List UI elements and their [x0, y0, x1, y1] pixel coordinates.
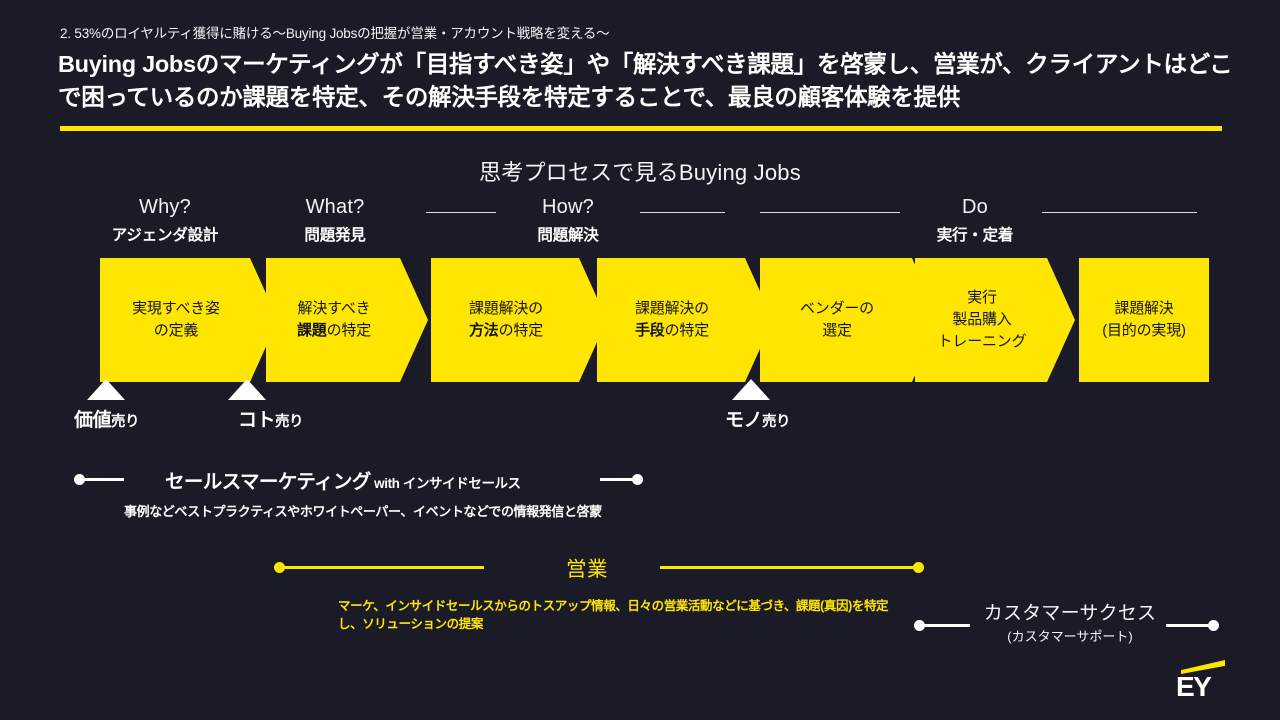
marker-label-3-emphasis: モノ	[725, 410, 762, 431]
marker-label-value-selling: 価値売り	[74, 405, 139, 432]
lane-title-customer-success-main: カスタマーサクセス	[980, 598, 1160, 625]
process-step-3-line1: 課題解決の	[469, 300, 543, 317]
phase-divider-1	[426, 212, 496, 213]
phase-question-why: Why?	[95, 197, 235, 218]
lane-title-sales-marketing-main: セールスマーケティング	[165, 471, 371, 493]
process-chevron-row: 実現すべき姿 の定義 解決すべき 課題の特定 課題解決の 方法の特定 課題解決の…	[0, 258, 1280, 382]
marker-label-mono-selling: モノ売り	[725, 405, 790, 432]
lane-endpoint-dot-icon-marketing-right	[632, 474, 643, 485]
process-step-2-emphasis: 課題	[297, 322, 327, 339]
marker-label-1-emphasis: 価値	[74, 410, 111, 431]
lane-title-sales-marketing: セールスマーケティング with インサイドセールス	[165, 465, 521, 494]
triangle-marker-icon-3	[732, 379, 770, 400]
lane-line-sales-left	[282, 566, 484, 569]
marker-label-3-suffix: 売り	[762, 414, 790, 430]
process-step-1-line1: 実現すべき姿	[132, 300, 220, 317]
lane-line-marketing-left	[82, 478, 124, 481]
process-step-2-line1: 解決すべき	[298, 300, 371, 317]
lane-title-customer-success: カスタマーサクセス (カスタマーサポート)	[980, 598, 1160, 645]
process-step-7-text: 課題解決 (目的の実現)	[1094, 298, 1194, 342]
phase-question-do: Do	[905, 197, 1045, 218]
lane-line-cs-right	[1166, 624, 1214, 627]
lane-title-customer-success-sub: (カスタマーサポート)	[980, 626, 1160, 645]
ey-wordmark: EY	[1176, 673, 1210, 701]
phase-subtitle-how: 問題解決	[498, 223, 638, 245]
lane-description-sales: マーケ、インサイドセールスからのトスアップ情報、日々の営業活動などに基づき、課題…	[338, 597, 898, 633]
phase-subtitle-why: アジェンダ設計	[95, 223, 235, 245]
lane-description-sales-marketing: 事例などベストプラクティスやホワイトペーパー、イベントなどでの情報発信と啓蒙	[124, 503, 644, 521]
lane-title-sales: 営業	[566, 552, 608, 582]
lane-line-sales-right	[660, 566, 918, 569]
ey-logo: EY	[1176, 660, 1248, 706]
lane-line-cs-left	[922, 624, 970, 627]
process-step-2[interactable]: 解決すべき 課題の特定	[266, 258, 428, 382]
diagram-title: 思考プロセスで見るBuying Jobs	[0, 155, 1280, 187]
process-step-7-line1: 課題解決	[1114, 300, 1173, 317]
headline-underline-rule	[60, 126, 1222, 131]
phase-subtitle-what: 問題発見	[265, 223, 405, 245]
process-step-4[interactable]: 課題解決の 手段の特定	[597, 258, 773, 382]
marker-label-2-emphasis: コト	[238, 410, 275, 431]
phase-header-do: Do 実行・定着	[905, 197, 1045, 245]
lane-endpoint-dot-icon-sales-right	[913, 562, 924, 573]
process-step-3-line2-tail: の特定	[499, 322, 543, 339]
marker-label-1-suffix: 売り	[111, 414, 139, 430]
process-step-4-text: 課題解決の 手段の特定	[631, 298, 739, 342]
phase-header-what: What? 問題発見	[265, 197, 405, 245]
process-step-1[interactable]: 実現すべき姿 の定義	[100, 258, 278, 382]
phase-divider-4	[1042, 212, 1197, 213]
page-title: Buying Jobsのマーケティングが「目指すべき姿」や「解決すべき課題」を啓…	[58, 48, 1238, 115]
process-step-7[interactable]: 課題解決 (目的の実現)	[1079, 258, 1209, 382]
process-step-4-line1: 課題解決の	[635, 300, 709, 317]
phase-header-why: Why? アジェンダ設計	[95, 197, 235, 245]
process-step-2-text: 解決すべき 課題の特定	[293, 298, 401, 342]
process-step-6-line2: 製品購入	[952, 311, 1011, 328]
process-step-3-text: 課題解決の 方法の特定	[465, 298, 573, 342]
marker-label-2-suffix: 売り	[275, 414, 303, 430]
process-step-5[interactable]: ベンダーの 選定	[760, 258, 940, 382]
triangle-marker-icon-1	[87, 379, 125, 400]
process-step-1-text: 実現すべき姿 の定義	[128, 298, 250, 342]
process-step-4-emphasis: 手段	[635, 322, 665, 339]
process-step-3[interactable]: 課題解決の 方法の特定	[431, 258, 607, 382]
phase-divider-2	[640, 212, 725, 213]
process-step-7-line2: (目的の実現)	[1102, 322, 1186, 339]
process-step-6-line3: トレーニング	[938, 333, 1027, 350]
marker-label-koto-selling: コト売り	[238, 405, 303, 432]
triangle-marker-icon-2	[228, 379, 266, 400]
slide-canvas: 2. 53%のロイヤルティ獲得に賭ける〜Buying Jobsの把握が営業・アカ…	[0, 0, 1280, 720]
process-step-5-line2: 選定	[822, 322, 852, 339]
process-step-4-line2-tail: の特定	[665, 322, 709, 339]
phase-header-how: How? 問題解決	[498, 197, 638, 245]
slide-eyebrow: 2. 53%のロイヤルティ獲得に賭ける〜Buying Jobsの把握が営業・アカ…	[60, 22, 609, 42]
process-step-6-line1: 実行	[967, 289, 997, 306]
process-step-5-text: ベンダーの 選定	[796, 298, 904, 342]
process-step-3-emphasis: 方法	[469, 322, 499, 339]
lane-endpoint-dot-icon-cs-right	[1208, 620, 1219, 631]
process-step-5-line1: ベンダーの	[800, 300, 874, 317]
process-step-2-line2-tail: の特定	[327, 322, 371, 339]
process-step-6[interactable]: 実行 製品購入 トレーニング	[915, 258, 1075, 382]
process-step-1-line2: の定義	[154, 322, 198, 339]
phase-question-what: What?	[265, 197, 405, 218]
phase-divider-3	[760, 212, 900, 213]
phase-question-how: How?	[498, 197, 638, 218]
process-step-6-text: 実行 製品購入 トレーニング	[934, 287, 1057, 352]
phase-subtitle-do: 実行・定着	[905, 223, 1045, 245]
lane-title-sales-marketing-with: with インサイドセールス	[371, 476, 521, 491]
